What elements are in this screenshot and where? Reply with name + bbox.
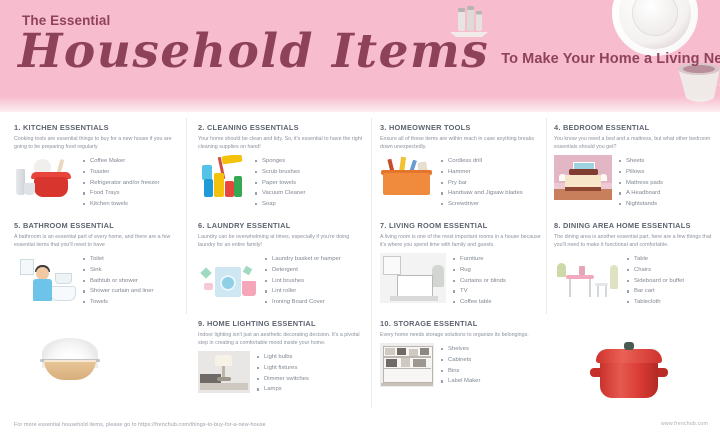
- lamp-shade-shape: [215, 355, 233, 366]
- section-description: A bathroom is an essential part of every…: [14, 233, 182, 249]
- list-item: Coffee table: [453, 297, 542, 308]
- kitchen-item-list: Coffee Maker Toaster Refrigerator and/or…: [83, 155, 180, 210]
- list-item: Pillows: [619, 167, 712, 178]
- section-laundry-essential: 6. LAUNDRY ESSENTIAL Laundry can be over…: [198, 222, 366, 308]
- tv-shape: [397, 275, 433, 298]
- tools-item-list: Cordless drill Hammer Pry bar Handsaw an…: [441, 155, 540, 210]
- list-item: Vacuum Cleaner: [255, 188, 364, 199]
- list-item: Ironing Board Cover: [265, 297, 366, 308]
- list-item: Towels: [83, 297, 182, 308]
- section-heading: 5. BATHROOM ESSENTIAL: [14, 222, 182, 230]
- list-item: Mattress pads: [619, 178, 712, 189]
- table-lamp-illustration: [198, 351, 250, 393]
- list-item: Cabinets: [441, 355, 542, 366]
- list-item: Lamps: [257, 384, 366, 395]
- section-living-room-essential: 7. LIVING ROOM ESSENTIAL A living room i…: [380, 222, 542, 308]
- section-heading: 8. DINING AREA HOME ESSENTIALS: [554, 222, 714, 230]
- lighting-item-list: Light bulbs Light fixtures Dimmer switch…: [257, 351, 366, 395]
- section-heading: 6. LAUNDRY ESSENTIAL: [198, 222, 366, 230]
- holder-bowl-shape: [44, 360, 96, 380]
- list-item: Scrub brushes: [255, 167, 364, 178]
- table-leg-shape: [569, 279, 571, 297]
- list-item: Laundry basket or hamper: [265, 254, 366, 265]
- column-divider-3: [546, 118, 547, 314]
- list-item: Dimmer switches: [257, 374, 366, 385]
- pot-knob-shape: [624, 342, 634, 350]
- living-room-item-list: Furniture Rug Curtains or blinds TV Coff…: [453, 253, 542, 308]
- storage-bin-shape: [409, 349, 418, 355]
- section-description: Your home should be clean and tidy. So, …: [198, 135, 364, 151]
- bathtub-shape: [50, 286, 76, 301]
- pot-lid-shape: [596, 349, 662, 363]
- list-item: Lint roller: [265, 286, 366, 297]
- cup-shape: [24, 183, 35, 195]
- list-item: Food Trays: [83, 188, 180, 199]
- section-home-lighting-essential: 9. HOME LIGHTING ESSENTIAL Indoor lighti…: [198, 320, 366, 395]
- cleaning-supplies-illustration: [198, 155, 248, 201]
- list-item: Bins: [441, 366, 542, 377]
- section-cleaning-essentials: 2. CLEANING ESSENTIALS Your home should …: [198, 124, 364, 210]
- list-item: Sideboard or buffet: [627, 276, 714, 287]
- section-heading: 1. KITCHEN ESSENTIALS: [14, 124, 180, 132]
- table-leg-shape: [589, 279, 591, 297]
- shelf-base-shape: [381, 383, 433, 387]
- list-item: Shelves: [441, 344, 542, 355]
- list-item: Chairs: [627, 265, 714, 276]
- list-item: Light fixtures: [257, 363, 366, 374]
- poster-footer: For more essential household items, plea…: [0, 415, 720, 441]
- section-kitchen-essentials: 1. KITCHEN ESSENTIALS Cooking tools are …: [14, 124, 180, 210]
- header-fade-overlay: [0, 96, 720, 112]
- folded-towel-shape: [204, 283, 213, 290]
- section-heading: 2. CLEANING ESSENTIALS: [198, 124, 364, 132]
- list-item: Label Maker: [441, 376, 542, 387]
- person-body-shape: [33, 279, 52, 301]
- plant-shape: [557, 263, 566, 277]
- infographic-poster: The Essential Household Items To Make Yo…: [0, 0, 720, 441]
- nightstand-lamp-shape: [600, 174, 607, 181]
- red-pot-shape: [34, 177, 68, 197]
- header-subtitle: To Make Your Home a Living Nest: [501, 51, 720, 74]
- list-item: Handsaw and Jigsaw blades: [441, 188, 540, 199]
- list-item: TV: [453, 286, 542, 297]
- storage-bin-shape: [413, 359, 426, 366]
- storage-shelf-illustration: [380, 343, 434, 387]
- poster-header: The Essential Household Items To Make Yo…: [0, 0, 720, 112]
- laundry-basket-shape: [242, 281, 256, 296]
- section-description: A living room is one of the most importa…: [380, 233, 542, 249]
- bottle-red-shape: [225, 181, 234, 197]
- soap-flake-shape: [200, 268, 211, 279]
- section-storage-essential: 10. STORAGE ESSENTIAL Every home needs s…: [380, 320, 542, 387]
- section-heading: 7. LIVING ROOM ESSENTIAL: [380, 222, 542, 230]
- spray-bottle-shape: [202, 165, 212, 180]
- section-heading: 9. HOME LIGHTING ESSENTIAL: [198, 320, 366, 328]
- list-item: Screwdriver: [441, 199, 540, 210]
- bedroom-illustration: [554, 155, 612, 200]
- sink-shape: [55, 273, 72, 284]
- list-item: Coffee Maker: [83, 156, 180, 167]
- storage-bin-shape: [386, 359, 397, 367]
- kitchen-illustration: [14, 155, 76, 201]
- list-item: Toilet: [83, 254, 182, 265]
- section-description: You know you need a bed and a mattress, …: [554, 135, 712, 151]
- list-item: Sponges: [255, 156, 364, 167]
- footer-url-link[interactable]: https://frenchub.com/things-to-buy-for-a…: [138, 422, 266, 428]
- mirror-shape: [20, 259, 34, 275]
- tv-stand-shape: [390, 296, 438, 301]
- list-item: A Headboard: [619, 188, 712, 199]
- side-table-shape: [200, 383, 248, 390]
- list-item: Sheets: [619, 156, 712, 167]
- list-item: Hammer: [441, 167, 540, 178]
- section-heading: 10. STORAGE ESSENTIAL: [380, 320, 542, 328]
- list-item: Tablecloth: [627, 297, 714, 308]
- bottle-blue-shape: [204, 179, 213, 197]
- list-item: Pry bar: [441, 178, 540, 189]
- section-description: Cooking tools are essential things to bu…: [14, 135, 180, 151]
- page-title: Household Items: [18, 30, 489, 75]
- list-item: Cordless drill: [441, 156, 540, 167]
- stool-leg-shape: [597, 286, 599, 297]
- section-description: Every home needs storage solutions to or…: [380, 331, 542, 339]
- list-item: Toaster: [83, 167, 180, 178]
- list-item: Sink: [83, 265, 182, 276]
- list-item: Bar cart: [627, 286, 714, 297]
- list-item: Soap: [255, 199, 364, 210]
- laundry-illustration: [198, 253, 258, 299]
- storage-bin-shape: [385, 348, 395, 355]
- picture-frame-shape: [383, 256, 401, 275]
- list-item: Detergent: [265, 265, 366, 276]
- tall-plant-shape: [610, 265, 618, 289]
- list-item: Curtains or blinds: [453, 276, 542, 287]
- living-room-illustration: [380, 253, 446, 303]
- dining-item-list: Table Chairs Sideboard or buffet Bar car…: [627, 253, 714, 308]
- column-divider-1: [186, 118, 187, 314]
- vase-shape: [579, 266, 585, 275]
- pot-body-shape: [600, 358, 658, 398]
- cleaning-item-list: Sponges Scrub brushes Paper towels Vacuu…: [255, 155, 364, 210]
- bathroom-illustration: [14, 253, 76, 301]
- storage-bin-shape: [397, 348, 406, 356]
- header-text-block: The Essential Household Items To Make Yo…: [18, 14, 678, 74]
- footer-brand: www.frenchub.com: [661, 421, 708, 427]
- toolbox-illustration: [380, 155, 434, 199]
- footer-note-text: For more essential household items, plea…: [14, 422, 138, 428]
- stool-leg-shape: [605, 286, 607, 297]
- storage-bin-shape: [401, 358, 411, 367]
- bottle-green-shape: [234, 176, 242, 197]
- list-item: Bathtub or shower: [83, 276, 182, 287]
- list-item: Rug: [453, 265, 542, 276]
- storage-item-list: Shelves Cabinets Bins Label Maker: [441, 343, 542, 387]
- section-bedroom-essential: 4. BEDROOM ESSENTIAL You know you need a…: [554, 124, 712, 210]
- bedroom-item-list: Sheets Pillows Mattress pads A Headboard…: [619, 155, 712, 210]
- section-heading: 4. BEDROOM ESSENTIAL: [554, 124, 712, 132]
- plant-shape: [432, 265, 444, 287]
- section-heading: 3. HOMEOWNER TOOLS: [380, 124, 540, 132]
- column-divider-2: [371, 118, 372, 408]
- list-item: Kitchen towels: [83, 199, 180, 210]
- napkin-holder-decoration: [32, 338, 106, 382]
- section-description: The dining area is another essential par…: [554, 233, 714, 249]
- storage-bin-shape: [420, 348, 429, 355]
- list-item: Lint brushes: [265, 276, 366, 287]
- red-cooking-pot-decoration: [588, 340, 670, 402]
- section-homeowner-tools: 3. HOMEOWNER TOOLS Ensure all of these i…: [380, 124, 540, 210]
- bottle-yellow-shape: [214, 173, 224, 197]
- lamp-stem-shape: [222, 366, 225, 379]
- section-dining-area-essentials: 8. DINING AREA HOME ESSENTIALS The dinin…: [554, 222, 714, 308]
- section-description: Ensure all of these items are within rea…: [380, 135, 540, 151]
- list-item: Nightstands: [619, 199, 712, 210]
- bathroom-item-list: Toilet Sink Bathtub or shower Shower cur…: [83, 253, 182, 308]
- lamp-base-shape: [217, 377, 231, 380]
- mop-head-shape: [222, 155, 243, 164]
- list-item: Table: [627, 254, 714, 265]
- list-item: Shower curtain and liner: [83, 286, 182, 297]
- list-item: Light bulbs: [257, 352, 366, 363]
- list-item: Paper towels: [255, 178, 364, 189]
- section-bathroom-essential: 5. BATHROOM ESSENTIAL A bathroom is an e…: [14, 222, 182, 308]
- toolbox-body-shape: [383, 173, 430, 195]
- bed-base-shape: [565, 187, 601, 192]
- list-item: Furniture: [453, 254, 542, 265]
- list-item: Refrigerator and/or freezer: [83, 178, 180, 189]
- shelf-board-shape: [383, 368, 431, 370]
- section-description: Indoor lighting isn't just an aesthetic …: [198, 331, 366, 347]
- section-description: Laundry can be overwhelming at times, es…: [198, 233, 366, 249]
- laundry-item-list: Laundry basket or hamper Detergent Lint …: [265, 253, 366, 308]
- dining-area-illustration: [554, 253, 620, 299]
- footer-note: For more essential household items, plea…: [14, 422, 266, 428]
- soap-flake-shape: [243, 266, 253, 276]
